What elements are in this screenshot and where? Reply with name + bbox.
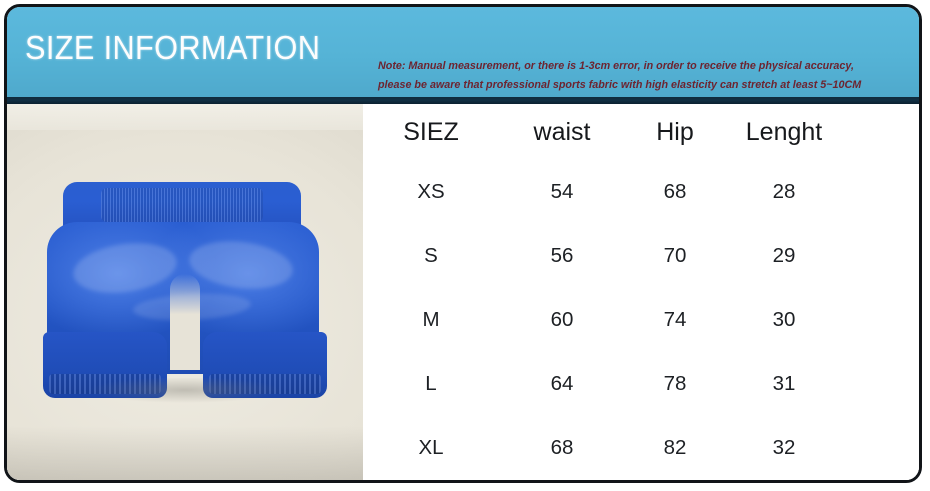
cell-hip: 68 <box>625 160 725 224</box>
cell-size: S <box>363 224 499 288</box>
cell-spacer <box>843 288 919 352</box>
cell-hip: 82 <box>625 416 725 480</box>
header-banner: SIZE INFORMATION Note: Manual measuremen… <box>7 7 919 97</box>
column-header-hip: Hip <box>625 104 725 160</box>
shorts-garment-illustration <box>37 182 333 412</box>
cell-length: 31 <box>725 352 843 416</box>
table-row: L 64 78 31 <box>363 352 919 416</box>
table-row: XL 68 82 32 <box>363 416 919 480</box>
cell-waist: 56 <box>499 224 625 288</box>
cell-spacer <box>843 224 919 288</box>
cell-spacer <box>843 416 919 480</box>
table-row: S 56 70 29 <box>363 224 919 288</box>
table-row: M 60 74 30 <box>363 288 919 352</box>
cell-size: XS <box>363 160 499 224</box>
size-chart-card: SIZE INFORMATION Note: Manual measuremen… <box>4 4 922 483</box>
column-header-waist: waist <box>499 104 625 160</box>
table-header-row: SIEZ waist Hip Lenght <box>363 104 919 160</box>
column-header-size: SIEZ <box>363 104 499 160</box>
size-table: SIEZ waist Hip Lenght XS 54 68 28 <box>363 104 919 480</box>
column-header-spacer <box>843 104 919 160</box>
header-divider <box>7 97 919 104</box>
cell-length: 29 <box>725 224 843 288</box>
photo-backdrop-bottom <box>7 426 363 480</box>
cell-length: 32 <box>725 416 843 480</box>
cell-length: 28 <box>725 160 843 224</box>
cell-waist: 60 <box>499 288 625 352</box>
shorts-inseam-gap <box>170 274 200 370</box>
table-row: XS 54 68 28 <box>363 160 919 224</box>
cell-waist: 68 <box>499 416 625 480</box>
content-area: SIEZ waist Hip Lenght XS 54 68 28 <box>7 104 919 480</box>
cell-waist: 64 <box>499 352 625 416</box>
cell-hip: 78 <box>625 352 725 416</box>
cell-size: XL <box>363 416 499 480</box>
cell-hip: 74 <box>625 288 725 352</box>
photo-backdrop-top <box>7 104 363 130</box>
measurement-note-line-1: Note: Manual measurement, or there is 1-… <box>378 57 901 76</box>
cell-size: L <box>363 352 499 416</box>
cell-length: 30 <box>725 288 843 352</box>
cell-spacer <box>843 160 919 224</box>
cell-hip: 70 <box>625 224 725 288</box>
measurement-note: Note: Manual measurement, or there is 1-… <box>378 57 901 95</box>
garment-shadow <box>51 378 319 408</box>
column-header-length: Lenght <box>725 104 843 160</box>
size-table-panel: SIEZ waist Hip Lenght XS 54 68 28 <box>363 104 919 480</box>
product-photo <box>7 104 363 480</box>
cell-size: M <box>363 288 499 352</box>
cell-waist: 54 <box>499 160 625 224</box>
cell-spacer <box>843 352 919 416</box>
measurement-note-line-2: please be aware that professional sports… <box>378 76 901 95</box>
page-title: SIZE INFORMATION <box>25 28 320 68</box>
